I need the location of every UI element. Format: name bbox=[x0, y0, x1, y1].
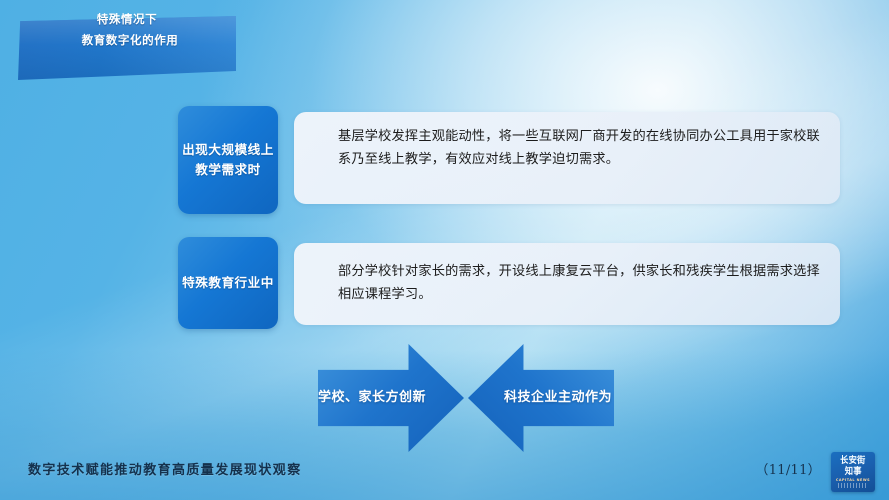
watermark-logo-line-1: 长安街 bbox=[840, 456, 865, 466]
content-panel-1: 基层学校发挥主观能动性，将一些互联网厂商开发的在线协同办公工具用于家校联系乃至线… bbox=[294, 112, 840, 204]
arrow-group: 学校、家长方创新 科技企业主动作为 bbox=[318, 344, 614, 452]
watermark-logo-en: CAPITAL NEWS bbox=[836, 478, 870, 482]
content-body-2: 部分学校针对家长的需求，开设线上康复云平台，供家长和残疾学生根据需求选择相应课程… bbox=[294, 243, 840, 306]
content-row-1: 基层学校发挥主观能动性，将一些互联网厂商开发的在线协同办公工具用于家校联系乃至线… bbox=[178, 106, 840, 218]
content-panel-2: 部分学校针对家长的需求，开设线上康复云平台，供家长和残疾学生根据需求选择相应课程… bbox=[294, 243, 840, 325]
content-tag-2-label: 特殊教育行业中 bbox=[182, 273, 274, 293]
watermark-logo-line-2: 知事 bbox=[845, 467, 862, 477]
title-line-2: 教育数字化的作用 bbox=[18, 30, 236, 51]
title-line-1: 特殊情况下 bbox=[18, 9, 236, 30]
arrow-right-label: 科技企业主动作为 bbox=[468, 387, 614, 408]
arrow-left-pointing[interactable]: 科技企业主动作为 bbox=[468, 344, 614, 452]
content-tag-1[interactable]: 出现大规模线上教学需求时 bbox=[178, 106, 278, 214]
slide-canvas: 特殊情况下 教育数字化的作用 基层学校发挥主观能动性，将一些互联网厂商开发的在线… bbox=[0, 0, 889, 500]
watermark-logo: 长安街 知事 CAPITAL NEWS bbox=[831, 452, 875, 492]
content-tag-1-label: 出现大规模线上教学需求时 bbox=[178, 140, 278, 181]
content-body-1: 基层学校发挥主观能动性，将一些互联网厂商开发的在线协同办公工具用于家校联系乃至线… bbox=[294, 112, 840, 171]
title-banner-text: 特殊情况下 教育数字化的作用 bbox=[18, 9, 236, 52]
watermark-logo-wave bbox=[838, 483, 868, 488]
content-tag-2[interactable]: 特殊教育行业中 bbox=[178, 237, 278, 329]
footer-title: 数字技术赋能推动教育高质量发展现状观察 bbox=[28, 459, 302, 478]
content-row-2: 部分学校针对家长的需求，开设线上康复云平台，供家长和残疾学生根据需求选择相应课程… bbox=[178, 237, 840, 333]
arrow-left-label: 学校、家长方创新 bbox=[318, 387, 464, 408]
page-indicator: （11/11） bbox=[755, 459, 821, 478]
arrow-right-pointing[interactable]: 学校、家长方创新 bbox=[318, 344, 464, 452]
